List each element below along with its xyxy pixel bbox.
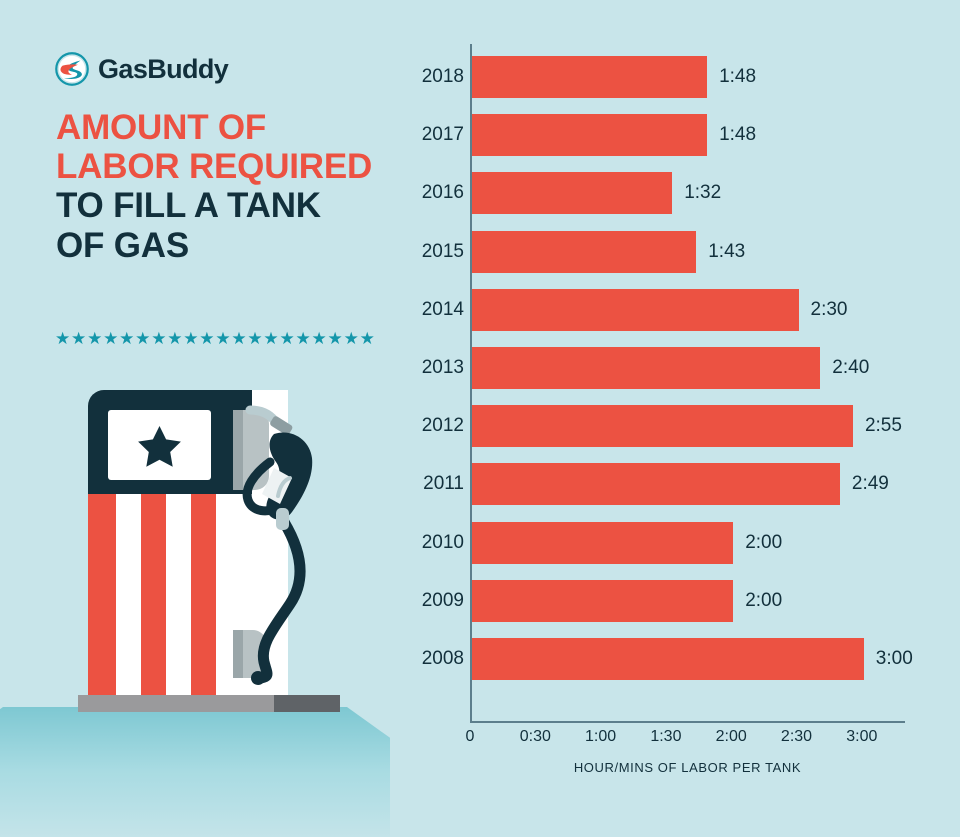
chart-x-tick-label: 1:00 <box>585 728 616 746</box>
chart-bar-row: 20092:00 <box>400 580 960 622</box>
star-icon: ★ <box>263 330 278 347</box>
page-title: AMOUNT OF LABOR REQUIRED TO FILL A TANK … <box>56 108 396 265</box>
star-icon: ★ <box>103 330 118 347</box>
chart-x-tick-label: 3:00 <box>846 728 877 746</box>
chart-bar <box>472 347 820 389</box>
chart-bar-category-label: 2011 <box>423 463 464 505</box>
chart-bar-value-label: 1:43 <box>708 231 745 273</box>
star-icon: ★ <box>87 330 102 347</box>
chart-x-axis-caption: HOUR/MINS OF LABOR PER TANK <box>470 760 905 775</box>
chart-bar-value-label: 2:49 <box>852 463 889 505</box>
chart-bar-row: 20151:43 <box>400 231 960 273</box>
chart-bar-value-label: 2:40 <box>832 347 869 389</box>
brand-logo: GasBuddy <box>55 52 228 86</box>
chart-bar-category-label: 2018 <box>422 56 464 98</box>
chart-bar-value-label: 2:00 <box>745 522 782 564</box>
chart-bar-row: 20161:32 <box>400 172 960 214</box>
chart-bar-category-label: 2012 <box>422 405 464 447</box>
gasbuddy-road-swoosh-icon <box>55 52 89 86</box>
chart-bar-row: 20142:30 <box>400 289 960 331</box>
chart-bar-category-label: 2016 <box>422 172 464 214</box>
chart-x-tick-label: 0 <box>466 728 475 746</box>
left-panel: GasBuddy AMOUNT OF LABOR REQUIRED TO FIL… <box>0 0 400 837</box>
star-icon: ★ <box>55 330 70 347</box>
star-icon: ★ <box>183 330 198 347</box>
chart-bar-row: 20122:55 <box>400 405 960 447</box>
star-icon: ★ <box>151 330 166 347</box>
star-icon: ★ <box>199 330 214 347</box>
chart-x-tick-label: 2:30 <box>781 728 812 746</box>
chart-x-axis-line <box>470 721 905 723</box>
chart-bar-row: 20102:00 <box>400 522 960 564</box>
chart-bar-row: 20132:40 <box>400 347 960 389</box>
bar-chart: 20181:4820171:4820161:3220151:4320142:30… <box>400 0 960 837</box>
star-icon: ★ <box>360 330 375 347</box>
chart-bar-value-label: 1:48 <box>719 56 756 98</box>
star-icon: ★ <box>295 330 310 347</box>
star-icon: ★ <box>167 330 182 347</box>
chart-x-tick-label: 0:30 <box>520 728 551 746</box>
chart-bar-value-label: 3:00 <box>876 638 913 680</box>
star-icon: ★ <box>247 330 262 347</box>
chart-bar-category-label: 2010 <box>422 522 464 564</box>
brand-name: GasBuddy <box>98 56 228 83</box>
star-icon: ★ <box>135 330 150 347</box>
chart-bar-row: 20171:48 <box>400 114 960 156</box>
chart-bar-category-label: 2015 <box>422 231 464 273</box>
chart-x-tick-label: 2:00 <box>716 728 747 746</box>
chart-bar <box>472 580 733 622</box>
chart-bar <box>472 56 707 98</box>
chart-bar-category-label: 2009 <box>422 580 464 622</box>
headline-line-4: OF GAS <box>56 226 396 265</box>
chart-bar <box>472 405 853 447</box>
star-icon: ★ <box>312 330 327 347</box>
chart-bar-category-label: 2017 <box>422 114 464 156</box>
chart-bar <box>472 114 707 156</box>
chart-bar <box>472 289 799 331</box>
chart-bar-value-label: 2:00 <box>745 580 782 622</box>
chart-bar <box>472 231 696 273</box>
infographic-canvas: GasBuddy AMOUNT OF LABOR REQUIRED TO FIL… <box>0 0 960 837</box>
headline-line-2: LABOR REQUIRED <box>56 147 396 186</box>
chart-bar <box>472 522 733 564</box>
star-icon: ★ <box>71 330 86 347</box>
headline-line-1: AMOUNT OF <box>56 108 396 147</box>
chart-bar <box>472 172 672 214</box>
chart-bar-value-label: 1:48 <box>719 114 756 156</box>
star-icon: ★ <box>231 330 246 347</box>
star-icon: ★ <box>279 330 294 347</box>
star-icon: ★ <box>344 330 359 347</box>
chart-bar-row: 20181:48 <box>400 56 960 98</box>
american-flag-gas-pump-illustration <box>78 382 340 712</box>
chart-bar-value-label: 2:30 <box>811 289 848 331</box>
chart-x-tick-label: 1:30 <box>650 728 681 746</box>
chart-bar <box>472 463 840 505</box>
chart-bar-category-label: 2013 <box>422 347 464 389</box>
star-icon: ★ <box>119 330 134 347</box>
chart-bar-value-label: 2:55 <box>865 405 902 447</box>
star-divider: ★★★★★★★★★★★★★★★★★★★★ <box>55 328 375 348</box>
star-icon: ★ <box>215 330 230 347</box>
chart-bar <box>472 638 864 680</box>
star-icon: ★ <box>328 330 343 347</box>
headline-line-3: TO FILL A TANK <box>56 186 396 225</box>
chart-bar-category-label: 2014 <box>422 289 464 331</box>
chart-bar-category-label: 2008 <box>422 638 464 680</box>
chart-bar-row: 20083:00 <box>400 638 960 680</box>
chart-bar-value-label: 1:32 <box>684 172 721 214</box>
chart-bar-row: 20112:49 <box>400 463 960 505</box>
